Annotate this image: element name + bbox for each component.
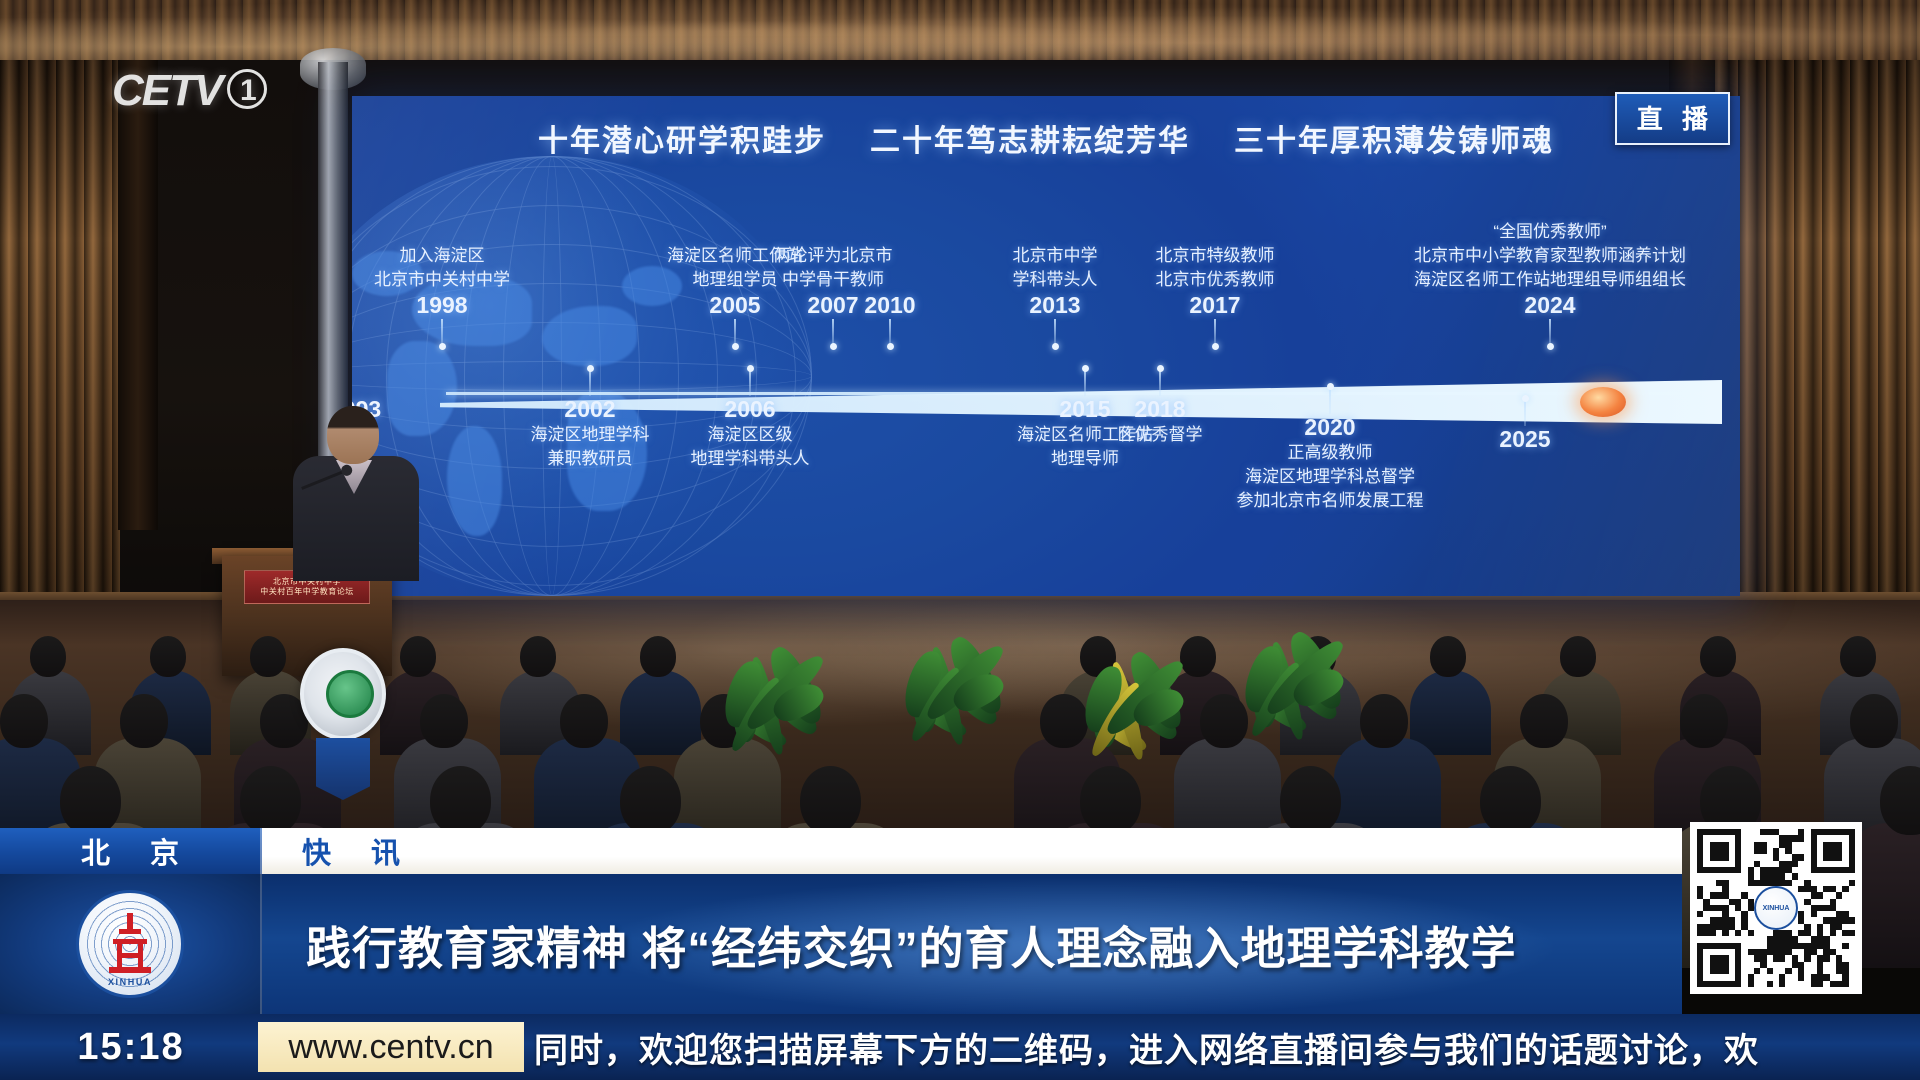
node-year: 2006 bbox=[660, 396, 840, 423]
xinhua-tower-icon bbox=[107, 913, 153, 975]
stage-plant bbox=[700, 636, 850, 756]
node-dot bbox=[1082, 365, 1089, 372]
node-dot bbox=[747, 365, 754, 372]
node-text: 海淀区地理学科总督学 bbox=[1200, 465, 1460, 489]
timeline-node-lower-2020: 2020正高级教师海淀区地理学科总督学参加北京市名师发展工程 bbox=[1200, 414, 1460, 513]
node-stem bbox=[832, 319, 834, 345]
audience-head bbox=[120, 694, 168, 748]
node-stem bbox=[734, 319, 736, 345]
curtain-left bbox=[0, 60, 120, 660]
audience-head bbox=[30, 636, 66, 677]
audience-head bbox=[400, 636, 436, 677]
audience-head bbox=[620, 766, 681, 835]
city-label: 北 京 bbox=[0, 828, 262, 874]
node-year: 2024 bbox=[1400, 292, 1700, 319]
broadcast-frame: 十年潜心研学积跬步二十年笃志耕耘绽芳华三十年厚积薄发铸师魂 1993 加入海淀区… bbox=[0, 0, 1920, 1080]
stage-plant bbox=[1220, 636, 1370, 741]
flash-label: 快 讯 bbox=[262, 828, 1682, 874]
xinhua-wordmark: XINHUA bbox=[79, 977, 181, 987]
school-emblem bbox=[300, 648, 386, 740]
audience-head bbox=[250, 636, 286, 677]
landmass-2 bbox=[447, 426, 502, 536]
node-year: 1998 bbox=[352, 292, 532, 319]
node-text: 北京市特级教师 bbox=[1130, 244, 1300, 268]
timeline-node-upper-1998: 加入海淀区北京市中关村中学1998 bbox=[352, 244, 532, 319]
node-dot bbox=[439, 343, 446, 350]
curtain-right bbox=[1710, 60, 1920, 660]
channel-logo-text: CETV bbox=[112, 66, 221, 115]
node-dot bbox=[887, 343, 894, 350]
timeline-node-lower-2006: 2006海淀区区级地理学科带头人 bbox=[660, 396, 840, 471]
speaker-head bbox=[327, 406, 379, 464]
node-text: 海淀区地理学科 bbox=[500, 423, 680, 447]
node-stem bbox=[889, 319, 891, 345]
node-text: 北京市中关村中学 bbox=[352, 268, 532, 292]
audience-head bbox=[1520, 694, 1568, 748]
audience-head bbox=[240, 766, 301, 835]
clock: 15:18 bbox=[0, 1026, 262, 1069]
node-year: 2013 bbox=[980, 292, 1130, 319]
node-stem bbox=[1054, 319, 1056, 345]
headline-part-2: 三十年厚积薄发铸师魂 bbox=[1234, 125, 1554, 158]
lower-third-top-row: 北 京 快 讯 bbox=[0, 828, 1682, 874]
node-text: 地理导师 bbox=[990, 447, 1180, 471]
headline-part-1: 二十年笃志耕耘绽芳华 bbox=[870, 125, 1190, 158]
xinhua-logo-icon: XINHUA bbox=[76, 890, 184, 998]
audience-head bbox=[1840, 636, 1876, 677]
node-year: 2020 bbox=[1200, 414, 1460, 441]
timeline-node-upper-2013: 北京市中学学科带头人2013 bbox=[980, 244, 1130, 319]
node-text: 北京市优秀教师 bbox=[1130, 268, 1300, 292]
audience-head bbox=[1480, 766, 1541, 835]
node-stem bbox=[1159, 370, 1161, 396]
audience-head bbox=[1680, 694, 1728, 748]
stage-plant bbox=[1060, 636, 1210, 761]
node-text: 兼职教研员 bbox=[500, 447, 680, 471]
node-stem bbox=[1329, 388, 1331, 414]
audience-head bbox=[60, 766, 121, 835]
audience-head bbox=[1430, 636, 1466, 677]
node-text: 两轮评为北京市 bbox=[748, 244, 918, 268]
audience-head bbox=[1080, 766, 1141, 835]
curtain-left-inner bbox=[118, 60, 158, 530]
node-stem bbox=[749, 370, 751, 396]
audience-head bbox=[1700, 636, 1736, 677]
live-badge: 直 播 bbox=[1615, 92, 1730, 145]
timeline-node-lower-2025: 2025 bbox=[1480, 426, 1570, 453]
node-text: 正高级教师 bbox=[1200, 441, 1460, 465]
audience-head bbox=[800, 766, 861, 835]
timeline-node-upper-2010: 2010 bbox=[850, 292, 930, 319]
node-stem bbox=[589, 370, 591, 396]
node-text: 地理学科带头人 bbox=[660, 447, 840, 471]
lower-third-ticker-row: 15:18 www.centv.cn 同时，欢迎您扫描屏幕下方的二维码，进入网络… bbox=[0, 1014, 1920, 1080]
node-text: 海淀区区级 bbox=[660, 423, 840, 447]
news-ticker: 同时，欢迎您扫描屏幕下方的二维码，进入网络直播间参与我们的话题讨论，欢 bbox=[524, 1023, 1920, 1072]
timeline-node-lower-2002: 2002海淀区地理学科兼职教研员 bbox=[500, 396, 680, 471]
node-stem bbox=[1549, 319, 1551, 345]
node-stem bbox=[441, 319, 443, 345]
node-text: 北京市中小学教育家型教师涵养计划 bbox=[1400, 244, 1700, 268]
node-year: 2025 bbox=[1480, 426, 1570, 453]
node-stem bbox=[1084, 370, 1086, 396]
node-stem bbox=[1524, 400, 1526, 426]
node-dot bbox=[587, 365, 594, 372]
node-year: 2017 bbox=[1130, 292, 1300, 319]
node-text: 北京市中学 bbox=[980, 244, 1130, 268]
headline-part-0: 十年潜心研学积跬步 bbox=[538, 125, 826, 158]
node-stem bbox=[1214, 319, 1216, 345]
slide-headline: 十年潜心研学积跬步二十年笃志耕耘绽芳华三十年厚积薄发铸师魂 bbox=[352, 116, 1740, 160]
audience-member bbox=[1410, 670, 1491, 756]
lower-third-headline-row: XINHUA 践行教育家精神 将“经纬交织”的育人理念融入地理学科教学 bbox=[0, 874, 1682, 1014]
audience-head bbox=[0, 694, 48, 748]
audience-head bbox=[560, 694, 608, 748]
node-dot bbox=[1547, 343, 1554, 350]
qr-center-label: XINHUA bbox=[1763, 905, 1790, 912]
node-dot bbox=[1327, 383, 1334, 390]
presentation-screen: 十年潜心研学积跬步二十年笃志耕耘绽芳华三十年厚积薄发铸师魂 1993 加入海淀区… bbox=[352, 96, 1740, 596]
node-dot bbox=[732, 343, 739, 350]
timeline-node-upper-2017: 北京市特级教师北京市优秀教师2017 bbox=[1130, 244, 1300, 319]
node-text: 学科带头人 bbox=[980, 268, 1130, 292]
website-url: www.centv.cn bbox=[258, 1022, 524, 1072]
node-dot bbox=[1052, 343, 1059, 350]
audience-head bbox=[520, 636, 556, 677]
audience-head bbox=[1850, 694, 1898, 748]
node-text: “全国优秀教师” bbox=[1400, 220, 1700, 244]
xinhua-logo-cell: XINHUA bbox=[0, 874, 262, 1014]
audience-head bbox=[1280, 766, 1341, 835]
channel-logo: CETV1 bbox=[112, 66, 267, 116]
audience-head bbox=[150, 636, 186, 677]
stage-plant bbox=[880, 636, 1030, 746]
news-headline: 践行教育家精神 将“经纬交织”的育人理念融入地理学科教学 bbox=[262, 912, 1682, 977]
audience-head bbox=[640, 636, 676, 677]
node-text: 中学骨干教师 bbox=[748, 268, 918, 292]
audience-head bbox=[1560, 636, 1596, 677]
lower-third: 北 京 快 讯 XINHUA bbox=[0, 828, 1920, 1080]
node-dot bbox=[1522, 395, 1529, 402]
qr-center-logo: XINHUA bbox=[1754, 886, 1798, 930]
node-text: 参加北京市名师发展工程 bbox=[1200, 489, 1460, 513]
timeline-node-upper-2024: “全国优秀教师”北京市中小学教育家型教师涵养计划海淀区名师工作站地理组导师组组长… bbox=[1400, 220, 1700, 319]
audience-member bbox=[620, 670, 701, 756]
node-dot bbox=[1157, 365, 1164, 372]
node-text: 加入海淀区 bbox=[352, 244, 532, 268]
podium-plaque-line2: 中关村百年中学教育论坛 bbox=[260, 587, 354, 597]
node-dot bbox=[830, 343, 837, 350]
node-year: 2002 bbox=[500, 396, 680, 423]
node-text: 海淀区名师工作站地理组导师组组长 bbox=[1400, 268, 1700, 292]
node-year: 2010 bbox=[850, 292, 930, 319]
sun-marker-icon bbox=[1580, 387, 1626, 417]
channel-number: 1 bbox=[227, 69, 267, 109]
audience-head bbox=[430, 766, 491, 835]
node-dot bbox=[1212, 343, 1219, 350]
audience-head bbox=[420, 694, 468, 748]
